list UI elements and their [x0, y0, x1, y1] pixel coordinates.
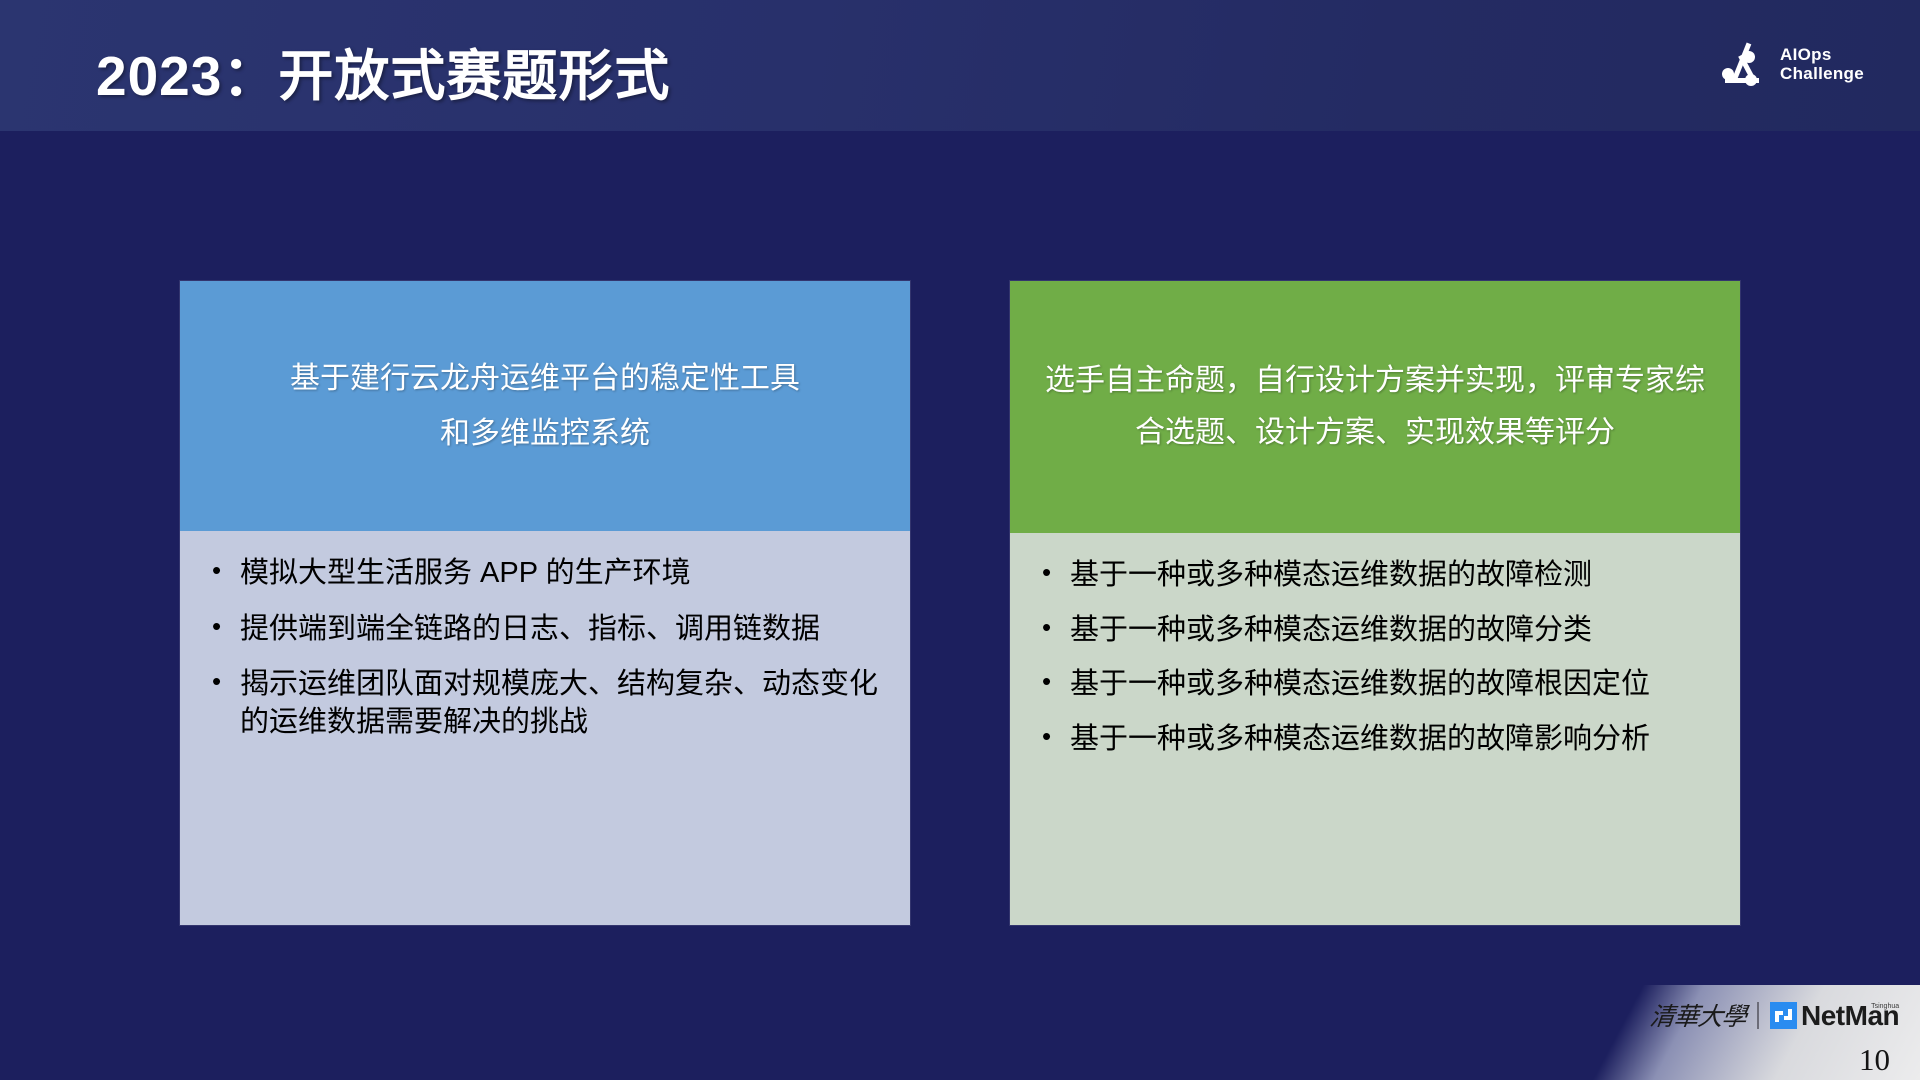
aiops-triangle-nodes-icon	[1717, 40, 1769, 88]
aiops-wordmark: AIOps Challenge	[1780, 45, 1864, 83]
footer-content: 清華大學 NetMan Tsinghua 10	[1590, 985, 1920, 1080]
list-item: 基于一种或多种模态运维数据的故障根因定位	[1040, 666, 1710, 704]
netman-logo: NetMan Tsinghua	[1770, 1002, 1899, 1029]
aiops-wordmark-line1: AIOps	[1780, 45, 1864, 64]
card-enterprise-header: 基于建行云龙舟运维平台的稳定性工具 和多维监控系统	[180, 281, 910, 531]
list-item: 提供端到端全链路的日志、指标、调用链数据	[210, 611, 880, 649]
card-enterprise-track: 基于建行云龙舟运维平台的稳定性工具 和多维监控系统 模拟大型生活服务 APP 的…	[180, 281, 910, 925]
aiops-challenge-logo: AIOps Challenge	[1717, 40, 1864, 88]
card-enterprise-body: 模拟大型生活服务 APP 的生产环境 提供端到端全链路的日志、指标、调用链数据 …	[180, 531, 910, 925]
open-bullet-list: 基于一种或多种模态运维数据的故障检测 基于一种或多种模态运维数据的故障分类 基于…	[1040, 557, 1710, 759]
divider	[1757, 1002, 1759, 1029]
tsinghua-university-logo: 清華大學	[1648, 997, 1748, 1033]
list-item: 基于一种或多种模态运维数据的故障影响分析	[1040, 721, 1710, 759]
card-enterprise-header-line2: 和多维监控系统	[290, 406, 800, 462]
card-open-body: 基于一种或多种模态运维数据的故障检测 基于一种或多种模态运维数据的故障分类 基于…	[1010, 533, 1740, 925]
page-number: 10	[1859, 1042, 1890, 1078]
netman-mark-icon	[1770, 1002, 1797, 1029]
page-title: 2023：开放式赛题形式	[96, 31, 670, 111]
list-item: 模拟大型生活服务 APP 的生产环境	[210, 555, 880, 593]
aiops-wordmark-line2: Challenge	[1780, 64, 1864, 83]
card-open-header: 选手自主命题，自行设计方案并实现，评审专家综 合选题、设计方案、实现效果等评分	[1010, 281, 1740, 533]
footer-logo-group: 清華大學 NetMan Tsinghua	[1650, 997, 1899, 1033]
card-open-header-line2: 合选题、设计方案、实现效果等评分	[1045, 407, 1705, 459]
list-item: 揭示运维团队面对规模庞大、结构复杂、动态变化的运维数据需要解决的挑战	[210, 666, 880, 741]
card-open-track: 选手自主命题，自行设计方案并实现，评审专家综 合选题、设计方案、实现效果等评分 …	[1010, 281, 1740, 925]
slide: 2023：开放式赛题形式 AIOps Challenge	[0, 0, 1920, 1080]
netman-wordmark: NetMan Tsinghua	[1801, 1002, 1899, 1029]
card-open-header-line1: 选手自主命题，自行设计方案并实现，评审专家综	[1045, 355, 1705, 407]
list-item: 基于一种或多种模态运维数据的故障检测	[1040, 557, 1710, 595]
enterprise-bullet-list: 模拟大型生活服务 APP 的生产环境 提供端到端全链路的日志、指标、调用链数据 …	[210, 555, 880, 742]
netman-superscript: Tsinghua	[1871, 993, 1899, 1020]
list-item: 基于一种或多种模态运维数据的故障分类	[1040, 612, 1710, 650]
title-bar: 2023：开放式赛题形式 AIOps Challenge	[0, 0, 1920, 131]
card-enterprise-header-line1: 基于建行云龙舟运维平台的稳定性工具	[290, 351, 800, 407]
